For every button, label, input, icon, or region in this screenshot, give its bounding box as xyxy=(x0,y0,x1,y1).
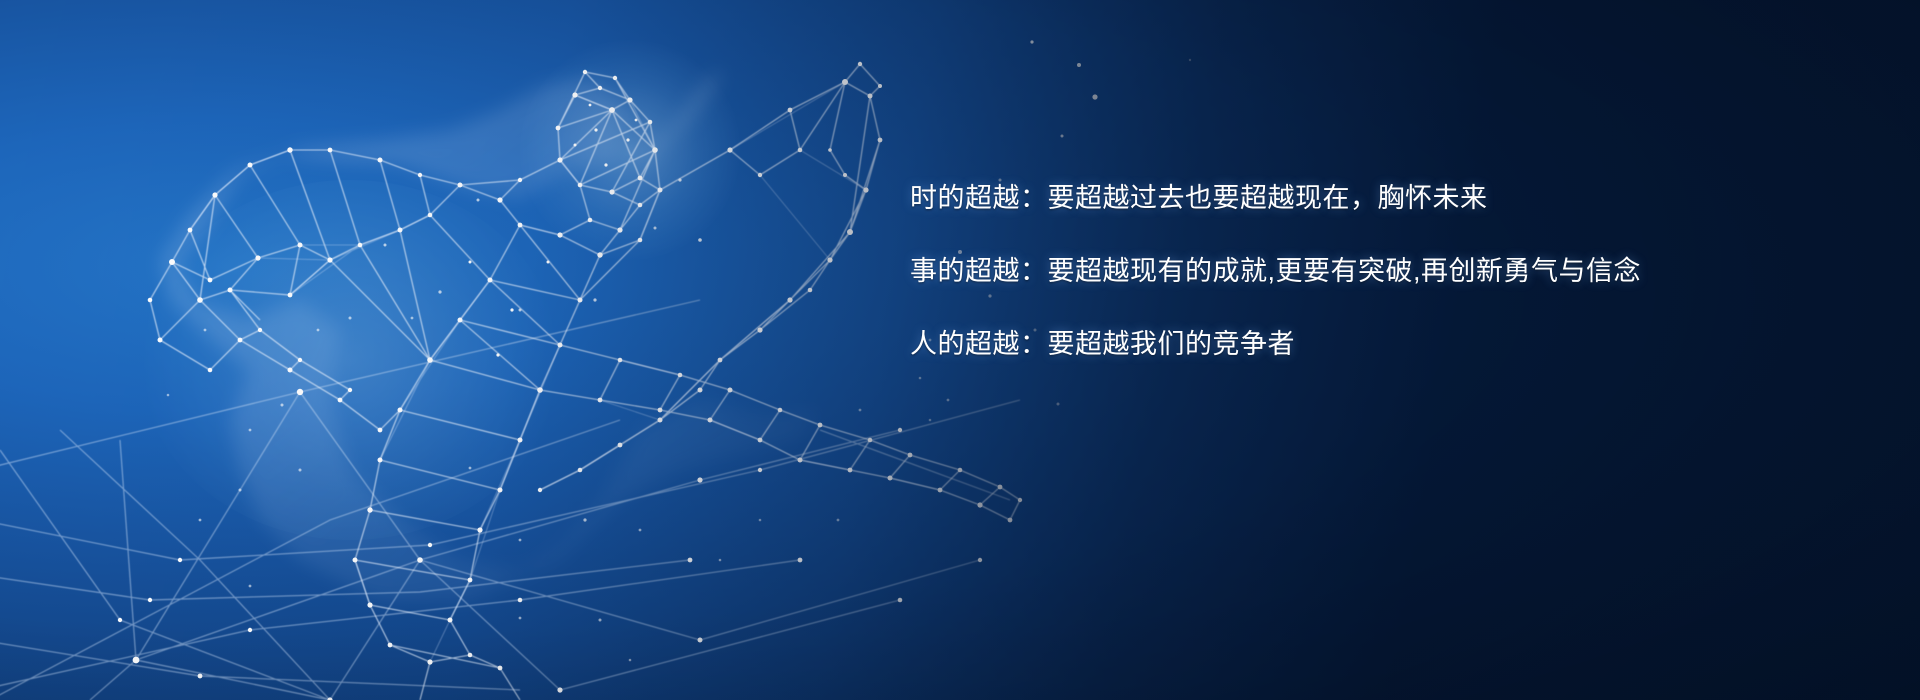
tagline-block: 时的超越：要超越过去也要超越现在，胸怀未来 事的超越：要超越现有的成就,更要有突… xyxy=(910,185,1810,358)
banner-stage: 时的超越：要超越过去也要超越现在，胸怀未来 事的超越：要超越现有的成就,更要有突… xyxy=(0,0,1920,700)
tagline-people: 人的超越：要超越我们的竞争者 xyxy=(910,331,1810,358)
tagline-matter: 事的超越：要超越现有的成就,更要有突破,再创新勇气与信念 xyxy=(910,258,1810,285)
tagline-time: 时的超越：要超越过去也要超越现在，胸怀未来 xyxy=(910,185,1810,212)
